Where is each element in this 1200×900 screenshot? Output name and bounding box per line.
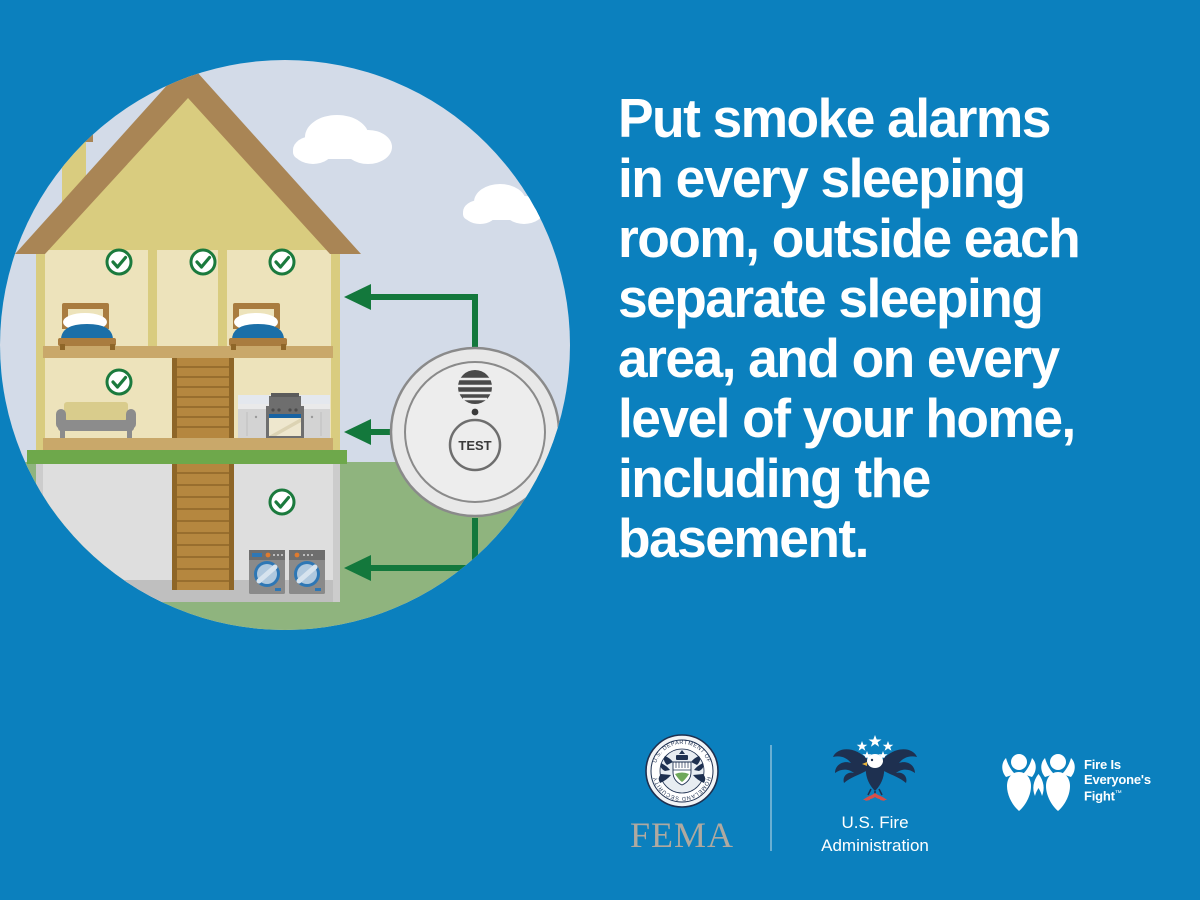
usfa-eagle-icon — [795, 733, 955, 805]
fema-logo: U.S. DEPARTMENT OF HOMELAND SECURITY — [612, 733, 752, 854]
headline-line: room, outside each — [618, 208, 1132, 268]
trademark-symbol: ™ — [1115, 790, 1122, 797]
logo-divider — [770, 745, 772, 851]
room-divider — [148, 250, 157, 358]
alarm-led-indicator — [472, 409, 479, 416]
poster-canvas: TEST Put smoke alarms in every sleeping … — [0, 0, 1200, 900]
feef-line2: Everyone's — [1084, 773, 1151, 788]
headline-line: including the — [618, 448, 1132, 508]
headline-line: basement. — [618, 508, 1132, 568]
smoke-alarm-device: TEST — [391, 348, 559, 516]
fema-wordmark: FEMA — [612, 816, 752, 854]
feef-line1: Fire Is — [1084, 758, 1151, 773]
stove-appliance — [266, 393, 304, 438]
scene-circle: TEST — [0, 40, 600, 650]
dhs-seal-icon: U.S. DEPARTMENT OF HOMELAND SECURITY — [612, 733, 752, 809]
usfa-line1: U.S. Fire — [795, 812, 955, 833]
flame-icon — [863, 793, 887, 801]
house-base-band — [27, 450, 347, 464]
logo-bar: U.S. DEPARTMENT OF HOMELAND SECURITY — [600, 725, 1200, 875]
fire-is-everyones-fight-logo: Fire Is Everyone's Fight™ — [1000, 747, 1190, 815]
headline-line: area, and on every — [618, 328, 1132, 388]
alarm-test-label: TEST — [458, 438, 491, 453]
dryer-appliance — [289, 550, 325, 594]
eagle-head — [867, 754, 883, 768]
room-divider — [218, 250, 227, 358]
checkmark-icon — [191, 250, 215, 274]
people-flame-icon — [1000, 747, 1078, 815]
headline-line: level of your home, — [618, 388, 1132, 448]
basement-stairs — [172, 462, 234, 590]
usfa-line2: Administration — [795, 835, 955, 856]
alarm-vent-grille — [458, 370, 492, 404]
washer-appliance — [249, 550, 285, 594]
checkmark-icon — [270, 490, 294, 514]
checkmark-icon — [270, 250, 294, 274]
checkmark-icon — [107, 370, 131, 394]
feef-line3-wrap: Fight™ — [1084, 787, 1151, 804]
checkmark-icon — [107, 250, 131, 274]
house-cutaway-illustration: TEST — [0, 40, 600, 650]
usfa-logo: U.S. Fire Administration — [795, 733, 955, 856]
headline-line: separate sleeping — [618, 268, 1132, 328]
kitchen-area — [238, 393, 330, 438]
feef-wordmark: Fire Is Everyone's Fight™ — [1084, 758, 1151, 804]
headline-text: Put smoke alarms in every sleeping room,… — [618, 88, 1148, 568]
main-stairs — [172, 358, 234, 438]
headline-line: in every sleeping — [618, 148, 1132, 208]
feef-line3: Fight — [1084, 788, 1115, 803]
main-level — [36, 358, 340, 450]
headline-line: Put smoke alarms — [618, 88, 1132, 148]
basement-level — [36, 462, 340, 602]
